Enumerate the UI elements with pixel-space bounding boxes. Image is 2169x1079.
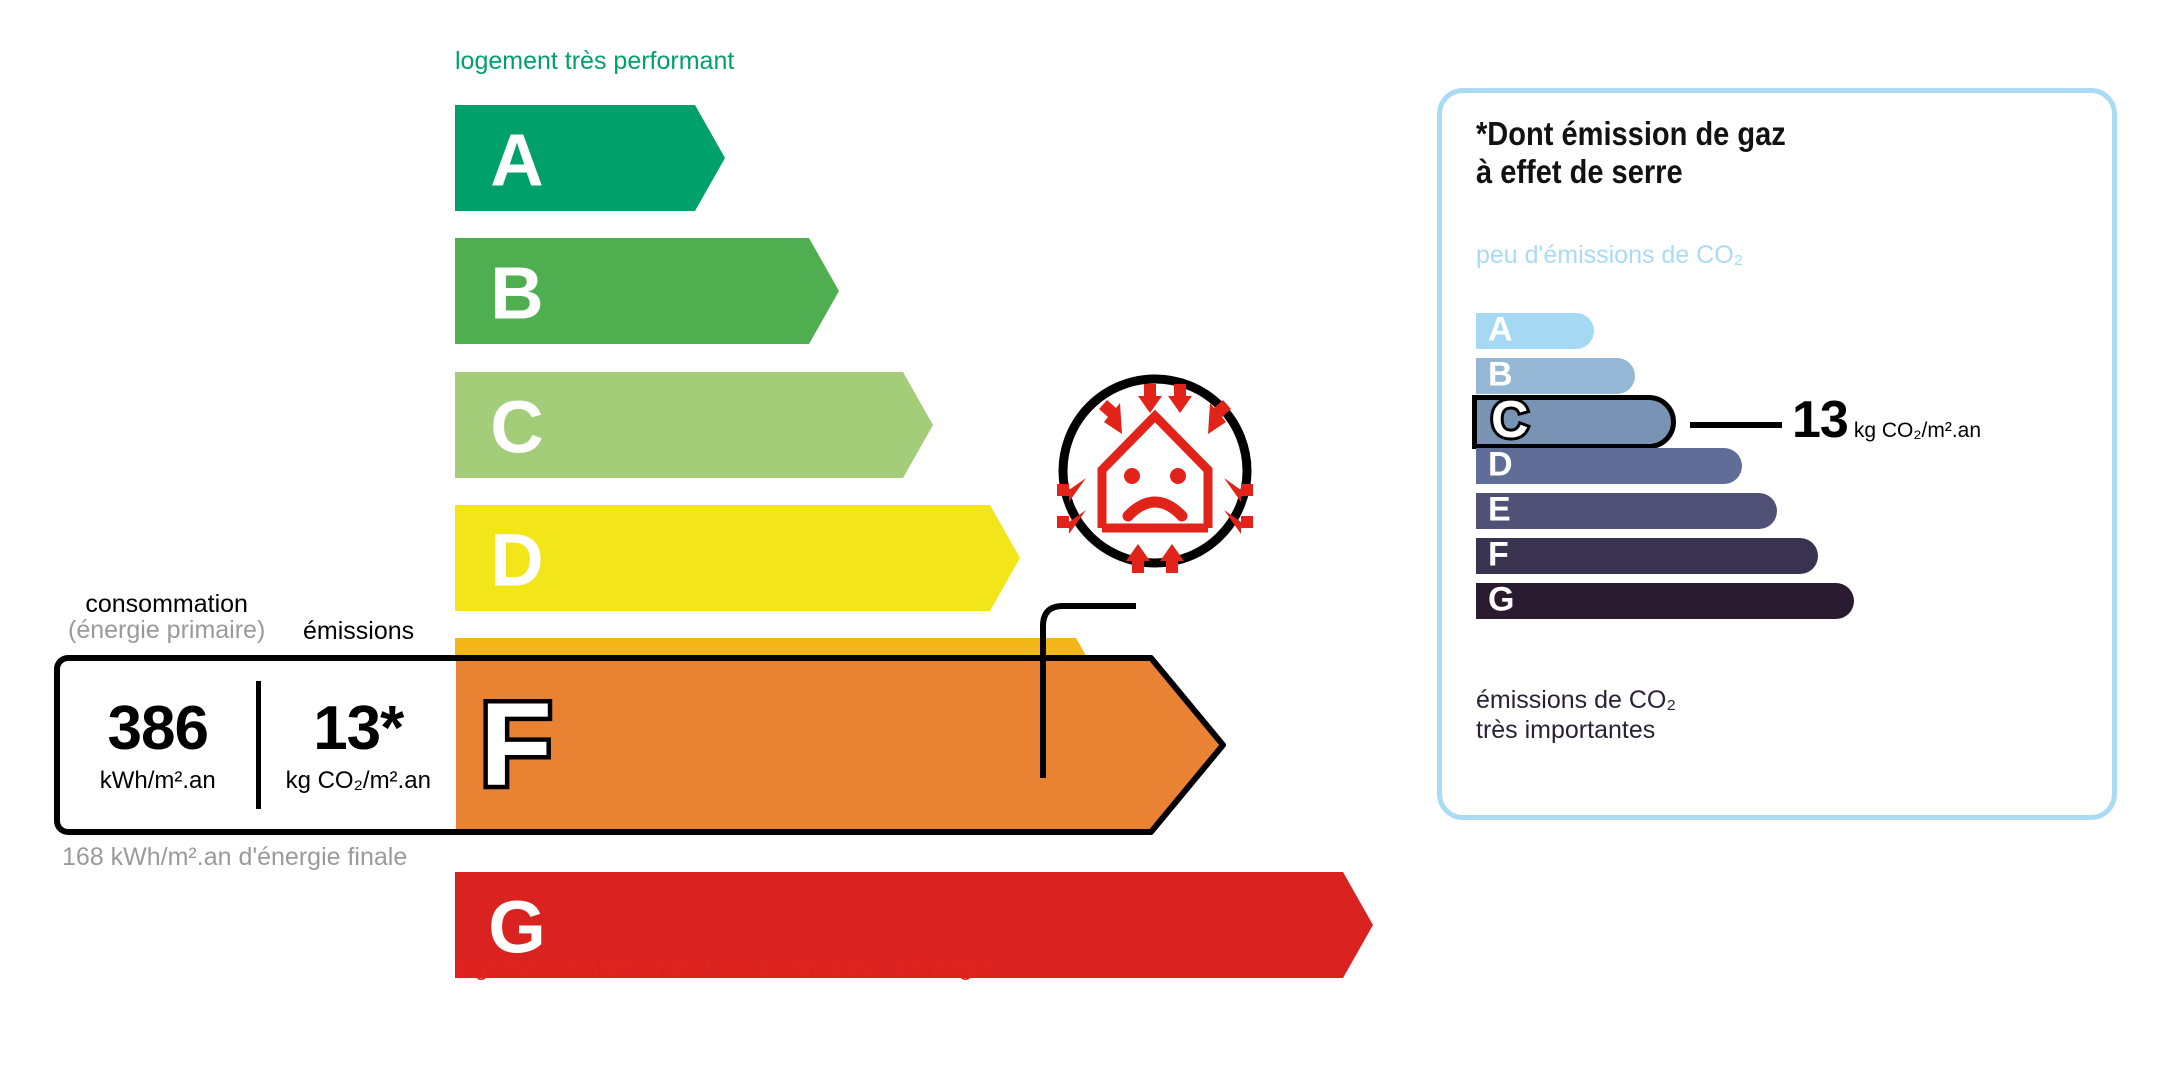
consumption-value-cell: 386 kWh/m².an bbox=[60, 698, 256, 793]
co2-class-letter-d: D bbox=[1488, 448, 1513, 482]
emissions-unit: kg CO₂/m².an bbox=[261, 769, 457, 793]
final-energy-note: 168 kWh/m².an d'énergie finale bbox=[62, 842, 407, 872]
callout-connector-line bbox=[1043, 606, 1136, 778]
co2-class-bar-b: B bbox=[1476, 358, 1635, 394]
co2-class-bar-c: C bbox=[1472, 395, 1676, 449]
co2-bar-shape-f: F bbox=[1476, 538, 1818, 574]
energy-class-bar-shape-a: A bbox=[455, 105, 725, 211]
emissions-value-cell: 13* kg CO₂/m².an bbox=[261, 698, 457, 793]
energy-class-bar-c: C bbox=[455, 372, 933, 478]
consumption-sublabel: (énergie primaire) bbox=[68, 617, 265, 643]
co2-class-letter-f: F bbox=[1488, 538, 1509, 572]
house-callout bbox=[1040, 358, 1270, 778]
current-class-letter: F bbox=[480, 679, 552, 811]
co2-leader-line bbox=[1690, 422, 1782, 428]
co2-emissions-panel: *Dont émission de gaz à effet de serre p… bbox=[1437, 88, 2117, 820]
co2-bar-shape-d: D bbox=[1476, 448, 1742, 484]
co2-class-bar-d: D bbox=[1476, 448, 1742, 484]
energy-class-letter-c: C bbox=[490, 386, 543, 469]
dpe-energy-label: logement très performant ABCDEG consomma… bbox=[0, 0, 2169, 1079]
energy-class-bar-d: D bbox=[455, 505, 1020, 611]
co2-value: 13 bbox=[1792, 391, 1848, 449]
consumption-header: consommation (énergie primaire) bbox=[68, 591, 265, 644]
consumption-unit: kWh/m².an bbox=[60, 769, 256, 793]
co2-class-bar-a: A bbox=[1476, 313, 1594, 349]
co2-bar-shape-g: G bbox=[1476, 583, 1854, 619]
co2-top-caption: peu d'émissions de CO₂ bbox=[1476, 241, 1743, 270]
co2-class-bar-g: G bbox=[1476, 583, 1854, 619]
energy-class-bar-a: A bbox=[455, 105, 725, 211]
co2-bar-shape-e: E bbox=[1476, 493, 1777, 529]
consumption-label: consommation bbox=[85, 590, 248, 618]
co2-class-letter-b: B bbox=[1488, 358, 1513, 392]
co2-class-bar-f: F bbox=[1476, 538, 1818, 574]
energy-class-bar-shape-c: C bbox=[455, 372, 933, 478]
co2-value-readout: 13kg CO₂/m².an bbox=[1792, 390, 1981, 450]
energy-class-letter-b: B bbox=[490, 252, 543, 335]
co2-class-letter-e: E bbox=[1488, 493, 1511, 527]
emissions-value: 13* bbox=[261, 698, 457, 760]
co2-bar-shape-c: C bbox=[1472, 395, 1676, 449]
energy-class-bar-shape-b: B bbox=[455, 238, 839, 344]
co2-bar-shape-a: A bbox=[1476, 313, 1594, 349]
energy-class-bar-b: B bbox=[455, 238, 839, 344]
co2-class-bar-e: E bbox=[1476, 493, 1777, 529]
energy-top-caption: logement très performant bbox=[455, 47, 734, 76]
energy-class-letter-a: A bbox=[490, 119, 543, 202]
value-box: 386 kWh/m².an 13* kg CO₂/m².an bbox=[54, 655, 456, 835]
co2-class-letter-a: A bbox=[1488, 313, 1513, 347]
co2-bar-shape-b: B bbox=[1476, 358, 1635, 394]
consumption-value: 386 bbox=[60, 698, 256, 760]
energy-bottom-caption: logement extrêmement consommateur d'éner… bbox=[455, 953, 992, 982]
co2-class-letter-g: G bbox=[1488, 583, 1514, 617]
energy-class-bar-shape-d: D bbox=[455, 505, 1020, 611]
sad-house-icon bbox=[1057, 379, 1253, 573]
co2-panel-title: *Dont émission de gaz à effet de serre bbox=[1476, 115, 1786, 191]
energy-class-letter-d: D bbox=[490, 519, 543, 602]
energy-performance-panel: logement très performant ABCDEG consomma… bbox=[0, 0, 1320, 1079]
co2-value-unit: kg CO₂/m².an bbox=[1854, 419, 1981, 442]
emissions-header: émissions bbox=[303, 618, 414, 644]
co2-bottom-caption: émissions de CO₂ très importantes bbox=[1476, 685, 1676, 745]
co2-class-letter-c: C bbox=[1491, 394, 1529, 446]
